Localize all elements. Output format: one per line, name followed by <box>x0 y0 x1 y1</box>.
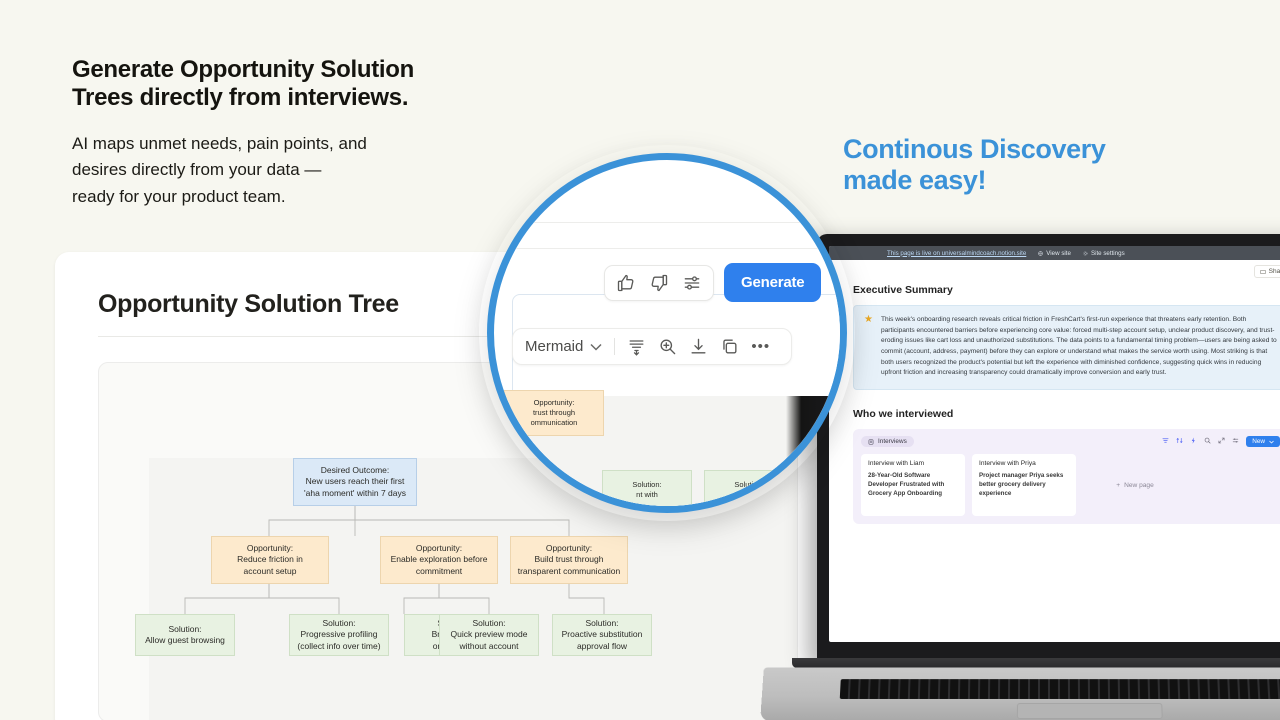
format-select-value: Mermaid <box>525 338 583 355</box>
feedback-group <box>604 265 714 301</box>
magnified-node-opportunity[interactable]: Opportunity: trust through ommunication <box>504 390 604 436</box>
notion-publish-banner: This page is live on universalmindcoach.… <box>829 246 1280 260</box>
interview-title: Interview with Priya <box>979 460 1069 467</box>
chevron-down-icon <box>590 343 602 351</box>
promo-blue-line-2: made easy! <box>843 165 1203 196</box>
new-page-label: New page <box>1124 482 1154 489</box>
subcopy: AI maps unmet needs, pain points, and de… <box>72 131 472 210</box>
format-icon[interactable] <box>627 337 646 356</box>
search-icon[interactable] <box>1204 437 1211 446</box>
lightning-icon[interactable] <box>1190 437 1197 446</box>
divider <box>614 338 615 355</box>
database-name: Interviews <box>878 438 907 445</box>
laptop-trackpad <box>1017 703 1163 719</box>
node-line-1: Enable exploration before <box>391 554 488 565</box>
magnifier-content: Generate Mermaid <box>494 160 840 506</box>
headline-line-1: Generate Opportunity Solution <box>72 56 492 84</box>
copy-icon[interactable] <box>720 337 739 356</box>
interview-description: 28-Year-Old Software Developer Frustrate… <box>868 472 958 499</box>
node-line-2: without account <box>459 641 518 652</box>
interview-title: Interview with Liam <box>868 460 958 467</box>
new-button-label: New <box>1252 438 1265 445</box>
node-line-2: account setup <box>244 566 297 577</box>
live-site-link[interactable]: This page is live on universalmindcoach.… <box>887 250 1026 257</box>
interviews-database: Interviews <box>853 429 1280 524</box>
notion-page-body: Executive Summary ★ This week's onboardi… <box>829 278 1280 524</box>
magnified-node-solution-left[interactable]: Solution: nt with <box>602 470 692 510</box>
new-button[interactable]: New <box>1246 436 1280 447</box>
node-label: Solution: <box>585 618 618 629</box>
notion-top-actions: Share <box>829 260 1280 278</box>
magnified-node-solution-right[interactable]: Solution: Filter s <box>704 470 794 510</box>
node-line-2: (collect info over time) <box>297 641 380 652</box>
tree-node-solution-4[interactable]: Solution: Quick preview mode without acc… <box>439 614 539 656</box>
zoom-in-icon[interactable] <box>658 337 677 356</box>
node-line-1: nt with <box>636 490 658 500</box>
interview-card[interactable]: Interview with Priya Project manager Pri… <box>972 454 1076 516</box>
tree-node-solution-2[interactable]: Solution: Progressive profiling (collect… <box>289 614 389 656</box>
generate-toolbar: Generate <box>604 263 821 302</box>
executive-summary-callout: ★ This week's onboarding research reveal… <box>853 305 1280 390</box>
download-icon[interactable] <box>689 337 708 356</box>
sort-icon[interactable] <box>1176 437 1183 446</box>
node-line-1: Filter s <box>738 490 761 500</box>
magnified-laptop-edge <box>786 396 840 513</box>
view-site-label: View site <box>1046 250 1071 257</box>
format-select[interactable]: Mermaid <box>525 338 602 355</box>
node-line-1: Quick preview mode <box>450 629 527 640</box>
laptop-screen: This page is live on universalmindcoach.… <box>829 246 1280 642</box>
plus-icon: + <box>1116 482 1120 489</box>
divider <box>494 222 847 223</box>
filter-icon[interactable] <box>1162 437 1169 446</box>
interview-card[interactable]: Interview with Liam 28-Year-Old Software… <box>861 454 965 516</box>
promo-blue-headline: Continous Discovery made easy! <box>843 134 1203 196</box>
node-line-1: Allow guest browsing <box>145 635 225 646</box>
settings-icon[interactable] <box>1232 437 1239 446</box>
tree-node-desired-outcome[interactable]: Desired Outcome: New users reach their f… <box>293 458 417 506</box>
node-label: Solution: <box>734 480 763 490</box>
node-label: Desired Outcome: <box>321 465 390 476</box>
tree-card-title: Opportunity Solution Tree <box>98 290 399 319</box>
gear-icon <box>1083 251 1088 256</box>
node-line-1: Reduce friction in <box>237 554 303 565</box>
promo-blue-line-1: Continous Discovery <box>843 134 1203 165</box>
who-we-interviewed-heading: Who we interviewed <box>853 408 1280 420</box>
node-line-1: trust through <box>533 408 575 418</box>
expand-icon[interactable] <box>1218 437 1225 446</box>
executive-summary-heading: Executive Summary <box>853 284 1280 296</box>
site-settings-label: Site settings <box>1091 250 1125 257</box>
laptop-deck <box>760 667 1280 720</box>
node-label: Opportunity: <box>546 543 592 554</box>
sliders-icon[interactable] <box>682 273 702 293</box>
subcopy-line-1: AI maps unmet needs, pain points, and <box>72 131 472 157</box>
database-header: Interviews <box>861 436 1280 447</box>
headline-line-2: Trees directly from interviews. <box>72 84 492 112</box>
node-line-1: Progressive profiling <box>300 629 377 640</box>
node-label: Opportunity: <box>416 543 462 554</box>
generate-button[interactable]: Generate <box>724 263 821 302</box>
database-name-chip[interactable]: Interviews <box>861 436 914 447</box>
executive-summary-body: This week's onboarding research reveals … <box>881 315 1277 379</box>
laptop-lid: This page is live on universalmindcoach.… <box>817 234 1280 664</box>
node-label: Opportunity: <box>534 398 575 408</box>
database-toolbar: New <box>1162 436 1280 447</box>
node-line-2: ommunication <box>531 418 578 428</box>
node-line-1: New users reach their first <box>306 476 405 487</box>
node-label: Solution: <box>322 618 355 629</box>
tree-node-solution-1[interactable]: Solution: Allow guest browsing <box>135 614 235 656</box>
new-page-button[interactable]: + New page <box>1083 454 1187 516</box>
share-label: Share <box>1269 268 1280 275</box>
tree-node-solution-5[interactable]: Solution: Proactive substitution approva… <box>552 614 652 656</box>
view-site-button[interactable]: View site <box>1038 250 1071 257</box>
node-line-1: Proactive substitution <box>562 629 643 640</box>
subcopy-line-2: desires directly from your data — <box>72 157 472 183</box>
interview-cards: Interview with Liam 28-Year-Old Software… <box>861 454 1280 516</box>
thumbs-up-icon[interactable] <box>616 273 636 293</box>
tree-node-opportunity-1[interactable]: Opportunity: Reduce friction in account … <box>211 536 329 584</box>
node-line-2: commitment <box>416 566 462 577</box>
more-icon[interactable]: ••• <box>751 338 770 355</box>
node-line-2: 'aha moment' within 7 days <box>304 488 406 499</box>
promo-image-canvas: Generate Opportunity Solution Trees dire… <box>0 0 1280 720</box>
chevron-down-icon <box>1269 440 1274 444</box>
magnifier-circle: Generate Mermaid <box>487 153 847 513</box>
interview-description: Project manager Priya seeks better groce… <box>979 472 1069 499</box>
tree-node-opportunity-3[interactable]: Opportunity: Build trust through transpa… <box>510 536 628 584</box>
node-label: Solution: <box>168 624 201 635</box>
node-label: Solution: <box>632 480 661 490</box>
star-icon: ★ <box>864 315 873 379</box>
page-title: Generate Opportunity Solution Trees dire… <box>72 56 492 112</box>
share-button[interactable]: Share <box>1254 265 1280 278</box>
laptop-base <box>762 658 1280 720</box>
share-window-icon <box>1260 269 1266 275</box>
laptop-keyboard <box>840 679 1280 699</box>
divider <box>494 248 847 249</box>
node-line-1: Build trust through <box>535 554 604 565</box>
node-line-2: approval flow <box>577 641 627 652</box>
thumbs-down-icon[interactable] <box>649 273 669 293</box>
subcopy-line-3: ready for your product team. <box>72 184 472 210</box>
node-label: Opportunity: <box>247 543 293 554</box>
node-label: Solution: <box>472 618 505 629</box>
diagram-format-toolbar: Mermaid <box>512 328 792 365</box>
tree-node-opportunity-2[interactable]: Opportunity: Enable exploration before c… <box>380 536 498 584</box>
globe-icon <box>1038 251 1043 256</box>
site-settings-button[interactable]: Site settings <box>1083 250 1125 257</box>
node-line-2: transparent communication <box>518 566 621 577</box>
database-icon <box>868 439 874 445</box>
